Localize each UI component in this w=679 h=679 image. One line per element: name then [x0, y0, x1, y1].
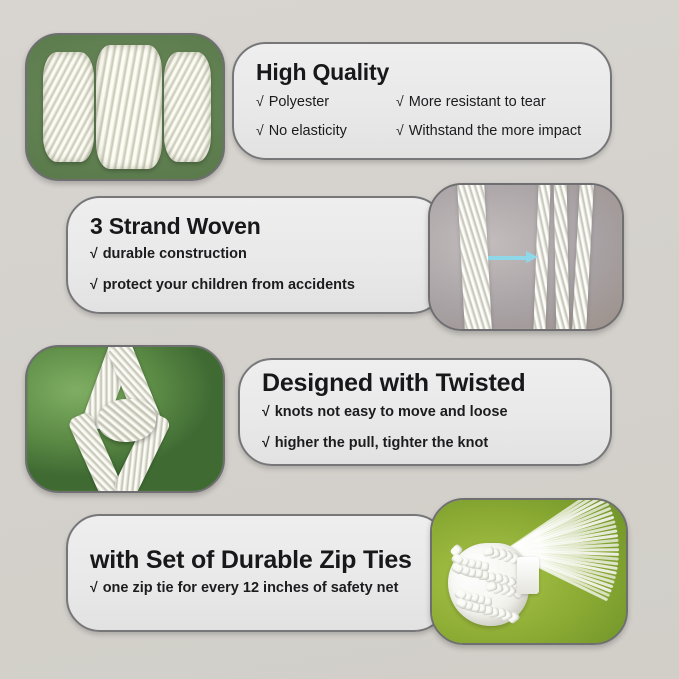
bullet-text: No elasticity	[269, 121, 347, 142]
rope-bundle	[164, 52, 211, 161]
check-icon: √	[256, 91, 264, 111]
check-icon: √	[262, 401, 270, 421]
bullet-item: √ protect your children from accidents	[90, 274, 428, 296]
rope-coil-photo	[27, 35, 223, 179]
check-icon: √	[256, 120, 264, 140]
check-icon: √	[90, 274, 98, 294]
rope-bundle	[43, 52, 94, 161]
check-icon: √	[262, 432, 270, 452]
arrow-head	[526, 251, 538, 263]
check-icon: √	[396, 91, 404, 111]
bullet-item: √ Polyester	[256, 91, 396, 113]
bullet-text: Withstand the more impact	[409, 121, 581, 142]
bullet-list-high-quality: √ Polyester √ More resistant to tear √ N…	[256, 91, 594, 142]
bullet-text: durable construction	[103, 244, 247, 265]
bullet-text: protect your children from accidents	[103, 275, 355, 296]
image-panel-rope-coil	[25, 33, 225, 181]
bullet-text: Polyester	[269, 92, 329, 113]
bullet-item: √ one zip tie for every 12 inches of saf…	[90, 577, 430, 599]
bullet-item: √ higher the pull, tighter the knot	[262, 432, 594, 454]
bullet-item: √ Withstand the more impact	[396, 120, 594, 142]
bullet-item: √ No elasticity	[256, 120, 396, 142]
infographic-board: High Quality √ Polyester √ More resistan…	[0, 0, 679, 679]
bullet-text: More resistant to tear	[409, 92, 546, 113]
bullet-item: √ More resistant to tear	[396, 91, 594, 113]
zip-tie-binding-band	[517, 557, 538, 594]
bullet-text: one zip tie for every 12 inches of safet…	[103, 578, 399, 599]
section-heading-durable-zip-ties: with Set of Durable Zip Ties	[90, 547, 430, 575]
rope-bundle	[96, 45, 163, 169]
text-panel-high-quality: High Quality √ Polyester √ More resistan…	[232, 42, 612, 160]
text-panel-three-strand-woven: 3 Strand Woven √ durable construction √ …	[66, 196, 446, 314]
arrow-right-icon	[488, 253, 538, 263]
check-icon: √	[396, 120, 404, 140]
text-panel-designed-with-twisted: Designed with Twisted √ knots not easy t…	[238, 358, 612, 466]
bullet-list-designed-with-twisted: √ knots not easy to move and loose √ hig…	[262, 401, 594, 454]
image-panel-zip-ties	[430, 498, 628, 645]
image-panel-rope-knot	[25, 345, 225, 493]
arrow-shaft	[488, 256, 528, 260]
bullet-text: higher the pull, tighter the knot	[275, 433, 488, 454]
section-heading-designed-with-twisted: Designed with Twisted	[262, 370, 594, 398]
section-heading-high-quality: High Quality	[256, 60, 594, 85]
bullet-list-three-strand-woven: √ durable construction √ protect your ch…	[90, 243, 428, 296]
bullet-item: √ durable construction	[90, 243, 428, 265]
bullet-list-durable-zip-ties: √ one zip tie for every 12 inches of saf…	[90, 577, 430, 599]
image-panel-rope-strands	[428, 183, 624, 331]
section-heading-three-strand-woven: 3 Strand Woven	[90, 214, 428, 239]
bullet-item: √ knots not easy to move and loose	[262, 401, 594, 423]
text-panel-durable-zip-ties: with Set of Durable Zip Ties √ one zip t…	[66, 514, 448, 632]
knot-center	[98, 399, 157, 442]
check-icon: √	[90, 243, 98, 263]
bullet-text: knots not easy to move and loose	[275, 402, 508, 423]
check-icon: √	[90, 577, 98, 597]
